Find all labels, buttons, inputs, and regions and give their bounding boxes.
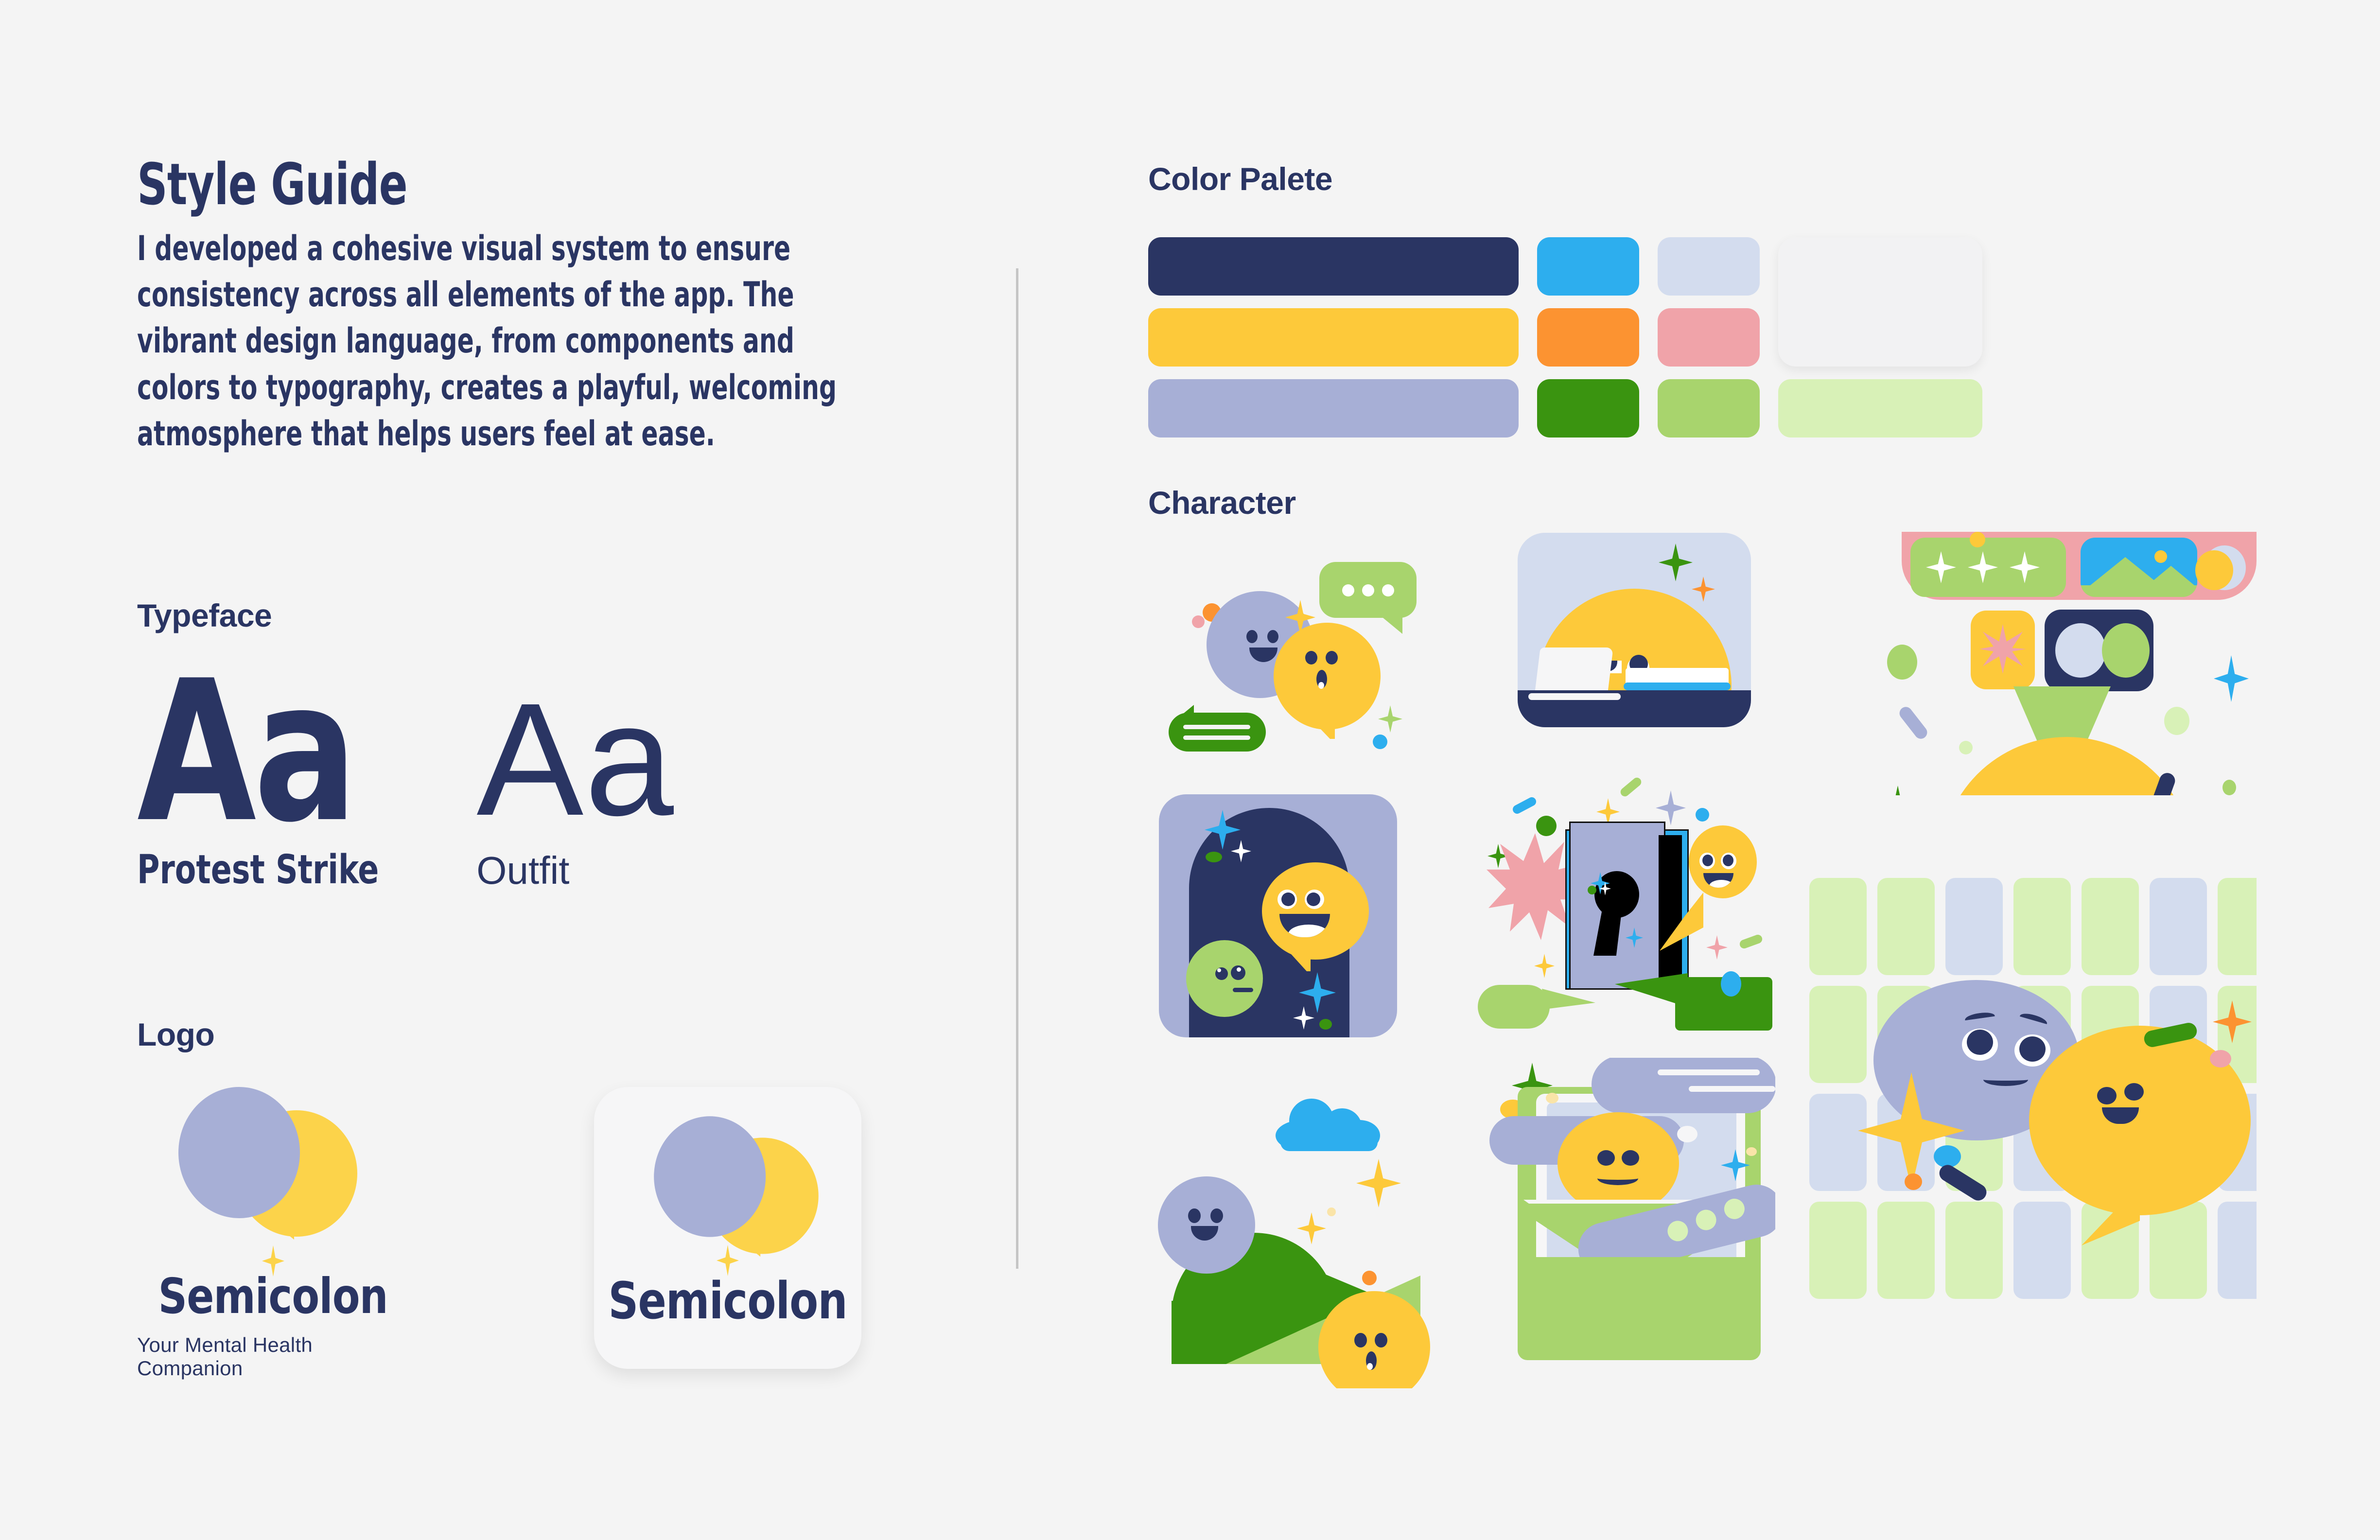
card-image — [2081, 538, 2197, 597]
speech-bubble-tail — [1287, 950, 1311, 971]
character-face-yellow — [1274, 623, 1381, 730]
typeface-name: Protest Strike — [137, 847, 379, 893]
logo-primary-lockup: Semicolon Your Mental Health Companion — [137, 1087, 409, 1380]
intro-block: Style Guide I developed a cohesive visua… — [137, 156, 963, 457]
color-swatch[interactable] — [1658, 379, 1760, 437]
dot-green-icon — [2222, 780, 2236, 795]
dot-pale-yellow-icon — [1327, 1207, 1336, 1216]
illustration-privacy-door-scene — [1469, 781, 1780, 1024]
color-swatch[interactable] — [1537, 308, 1639, 367]
page-title: Style Guide — [137, 156, 815, 213]
dot-blue-icon — [1696, 808, 1709, 822]
chat-bubble-green-lines — [1169, 713, 1266, 752]
mouth-smile — [1249, 647, 1277, 662]
logo-section: Logo Semicolon Your Mental Health Compan… — [137, 1016, 861, 1380]
sparkle-icon — [2214, 655, 2249, 702]
logo-tagline: Your Mental Health Companion — [137, 1333, 409, 1380]
logo-variants: Semicolon Your Mental Health Companion S… — [137, 1087, 861, 1380]
logo-wordmark: Semicolon — [158, 1268, 388, 1325]
card-toggle-tile — [2045, 610, 2153, 691]
dot-pink-icon — [2210, 1050, 2231, 1067]
cloud-icon — [1276, 1098, 1380, 1151]
card-rating — [1910, 538, 2066, 597]
sparkle-icon — [1378, 705, 1402, 733]
sparkle-icon — [1706, 935, 1728, 960]
typeface-section: Typeface Aa Protest Strike Aa Outfit — [137, 597, 675, 893]
character-head-yellow — [1689, 825, 1757, 898]
illustration-chat-bubbles-scene — [1153, 547, 1430, 756]
color-swatch[interactable] — [1148, 237, 1519, 296]
typeface-samples: Aa Protest Strike Aa Outfit — [137, 663, 675, 893]
speech-bubble-yellow — [1262, 862, 1369, 960]
illustration-studying-card — [1518, 533, 1751, 727]
dash-blue-icon — [1511, 796, 1538, 815]
card-avatar-yellow — [2195, 550, 2233, 590]
sparkle-icon — [1656, 790, 1686, 825]
color-swatch[interactable] — [1658, 237, 1760, 296]
dot-green-icon — [1206, 852, 1222, 862]
dot-green-icon — [1536, 816, 1557, 836]
blob-green-icon — [1887, 645, 1917, 680]
column-divider — [1016, 268, 1018, 1269]
speech-bubble-tail-icon — [251, 1212, 294, 1240]
typeface-heading: Typeface — [137, 597, 675, 634]
sparkle-icon — [1356, 1159, 1401, 1207]
illustration-landscape-scene — [1153, 1087, 1445, 1388]
logo-bubbles-mark — [654, 1116, 802, 1242]
beam-green — [2013, 686, 2111, 745]
color-swatch[interactable] — [1537, 379, 1639, 437]
dot-blue-icon — [1373, 735, 1387, 749]
glyph-specimen: Aa — [137, 663, 355, 842]
dash-green-icon — [1619, 776, 1643, 798]
logo-heading: Logo — [137, 1016, 861, 1053]
illustration-duo-on-grid — [1809, 868, 2257, 1393]
glyph-specimen: Aa — [476, 679, 675, 840]
mouth-smile — [1191, 1226, 1218, 1241]
dot-white-icon — [1677, 1126, 1697, 1142]
dot-orange-icon — [1905, 1173, 1922, 1190]
color-swatch[interactable] — [1778, 379, 1982, 437]
dot-yellow-icon — [1970, 532, 1985, 547]
door-gap-dark — [1659, 835, 1682, 991]
sparkle-icon — [1659, 543, 1693, 581]
character-face-green — [1186, 940, 1263, 1017]
laptop-base — [1528, 693, 1621, 700]
character-face-yellow — [1557, 1112, 1679, 1214]
speech-bubble-lavender-icon — [178, 1087, 300, 1218]
chat-bubble-yellow-tail — [1309, 717, 1335, 739]
sparkle-icon — [1297, 1212, 1326, 1244]
typeface-sample-protest-strike: Aa Protest Strike — [137, 663, 418, 893]
dash-periwinkle-icon — [1897, 704, 1929, 741]
illustration-message-envelope — [1484, 1058, 1775, 1398]
color-swatch[interactable] — [1148, 308, 1519, 367]
dot-green-icon — [1588, 886, 1596, 894]
dot-orange-icon — [1362, 1271, 1377, 1285]
color-swatch[interactable] — [1148, 379, 1519, 437]
style-guide-page: Style Guide I developed a cohesive visua… — [0, 0, 2380, 1540]
dot-pink-icon — [1192, 615, 1205, 628]
message-bar-top — [1592, 1058, 1775, 1113]
illustration-night-portrait-card — [1159, 794, 1397, 1037]
dot-pale-green-icon — [2164, 707, 2189, 735]
character-heading: Character — [1148, 484, 2257, 521]
color-swatch[interactable] — [1537, 237, 1639, 296]
dot-blue-icon — [1721, 971, 1741, 997]
logo-bubbles-mark — [178, 1087, 368, 1247]
app-icon-wordmark: Semicolon — [608, 1271, 847, 1330]
character-illustrations — [1148, 533, 2257, 1456]
color-palette-grid — [1148, 237, 2257, 437]
card-sparkle-tile — [1971, 611, 2035, 689]
bubble-green-light — [1478, 985, 1550, 1029]
chat-bubble-green-dots — [1319, 562, 1417, 618]
typeface-sample-outfit: Aa Outfit — [476, 679, 675, 893]
right-column: Color Palete Character — [1148, 160, 2257, 1456]
palette-heading: Color Palete — [1148, 160, 2257, 197]
typeface-name: Outfit — [476, 848, 569, 893]
envelope-body-front — [1518, 1257, 1761, 1360]
color-swatch[interactable] — [1778, 237, 1982, 367]
color-swatch[interactable] — [1658, 308, 1760, 367]
sparkle-icon — [1692, 577, 1715, 602]
book-spine — [1624, 682, 1731, 690]
dot-green-icon — [1319, 1019, 1332, 1030]
character-head-yellow — [1941, 737, 2193, 795]
dot-pale-yellow-icon — [1746, 1147, 1757, 1156]
dash-green-icon — [1738, 933, 1763, 949]
dot-pale-yellow-icon — [1546, 1093, 1558, 1103]
illustration-peeking-character — [1848, 523, 2257, 795]
speech-bubble-lavender-icon — [654, 1116, 766, 1237]
sparkle-icon — [1534, 954, 1555, 978]
intro-paragraph: I developed a cohesive visual system to … — [137, 226, 857, 457]
sparkle-icon — [1878, 786, 1917, 795]
character-face-lavender — [1158, 1176, 1255, 1274]
app-icon-card[interactable]: Semicolon — [594, 1087, 861, 1369]
dot-pale-green-icon — [1959, 741, 1973, 754]
